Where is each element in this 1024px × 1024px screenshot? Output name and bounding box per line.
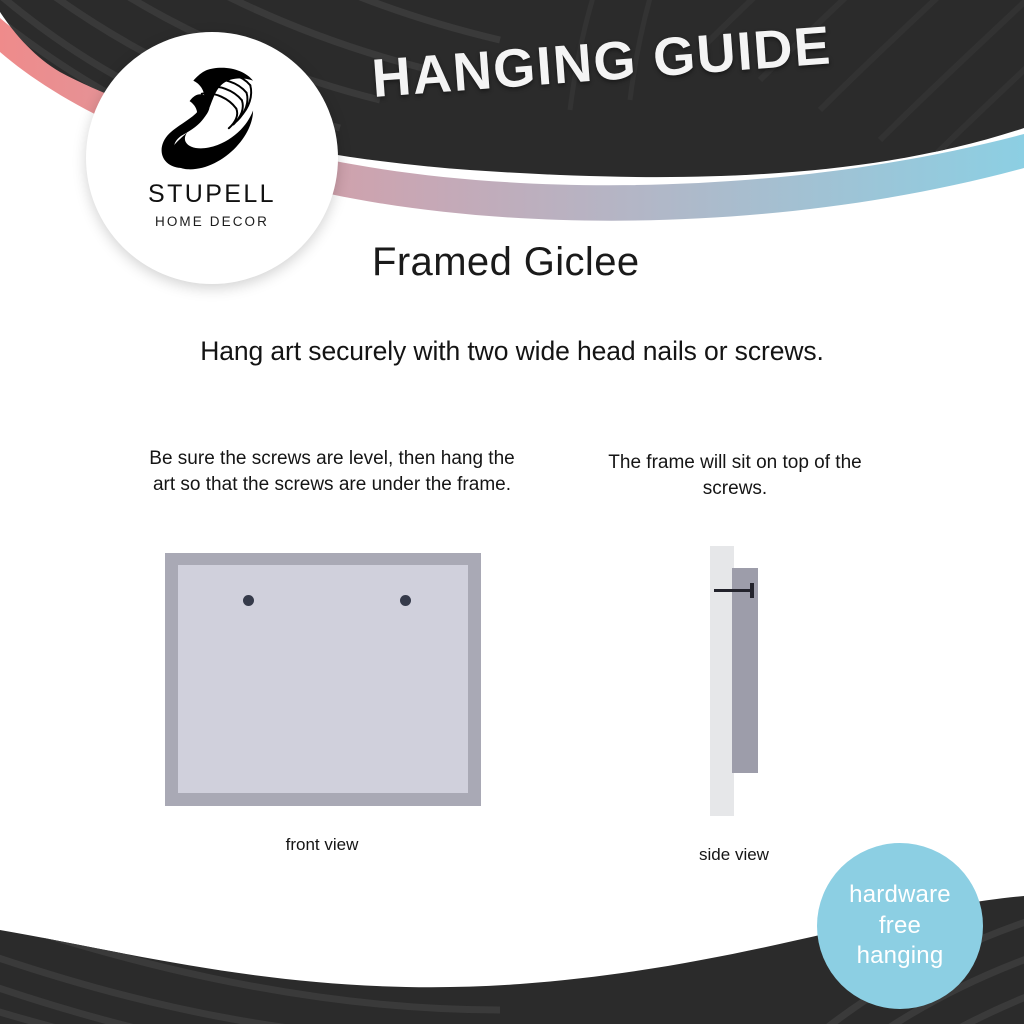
product-subtitle: Framed Giclee — [372, 240, 640, 285]
side-view-frame — [732, 568, 758, 773]
front-view-label: front view — [182, 835, 462, 855]
page-title: HANGING GUIDE — [370, 10, 893, 110]
side-view-label: side view — [630, 845, 838, 865]
stupell-s-swoosh-logo-icon — [156, 58, 268, 176]
hanging-guide-page: STUPELL HOME DECOR HANGING GUIDE Framed … — [0, 0, 1024, 1024]
badge-line-1: hardware — [849, 880, 951, 910]
front-view-mat — [178, 565, 468, 793]
screw-dot-right — [400, 595, 411, 606]
front-view-diagram — [165, 553, 481, 806]
front-view-caption: Be sure the screws are level, then hang … — [142, 446, 522, 498]
side-view-nail-icon — [714, 589, 754, 592]
badge-line-2: free — [879, 911, 921, 941]
side-view-wall — [710, 546, 734, 816]
badge-line-3: hanging — [857, 941, 944, 971]
lead-instruction-text: Hang art securely with two wide head nai… — [0, 336, 1024, 367]
brand-wordmark: STUPELL — [148, 180, 276, 209]
hardware-free-hanging-badge: hardware free hanging — [817, 843, 983, 1009]
screw-dot-left — [243, 595, 254, 606]
brand-logo-badge: STUPELL HOME DECOR — [86, 32, 338, 284]
brand-subwordmark: HOME DECOR — [155, 214, 269, 229]
side-view-nail-head-icon — [750, 583, 754, 598]
side-view-caption: The frame will sit on top of the screws. — [585, 450, 885, 502]
